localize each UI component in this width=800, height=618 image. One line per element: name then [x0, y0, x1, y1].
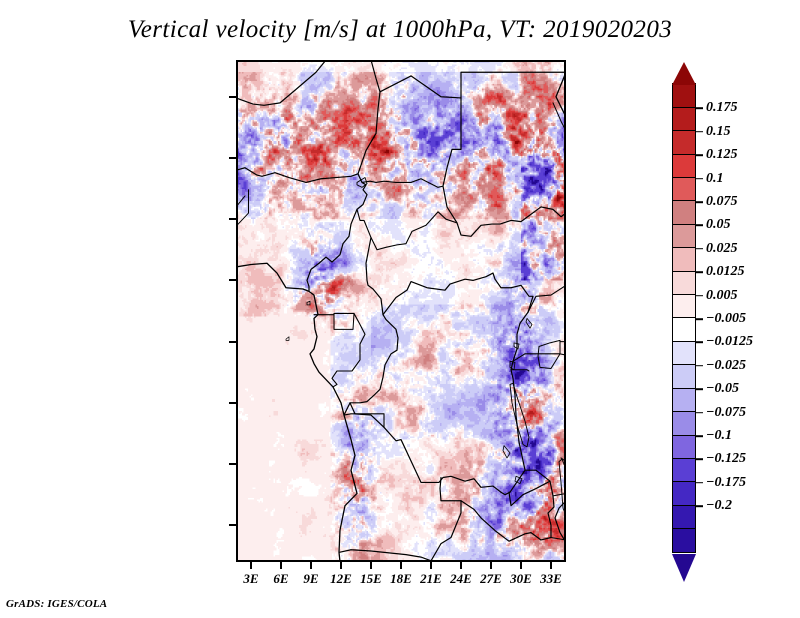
x-axis-tick [520, 562, 522, 569]
colorbar-tick-label: 0.05 [706, 217, 731, 233]
colorbar-tick [696, 459, 703, 461]
x-axis-label: 9E [303, 571, 318, 587]
x-axis-label: 15E [360, 571, 382, 587]
x-axis-tick [340, 562, 342, 569]
credit-text: GrADS: IGES/COLA [6, 598, 107, 610]
colorbar-swatch [672, 505, 696, 530]
colorbar-swatch [672, 458, 696, 483]
y-axis-tick [229, 463, 236, 465]
colorbar-tick [696, 505, 703, 507]
colorbar-swatch [672, 247, 696, 272]
y-axis-tick [229, 96, 236, 98]
colorbar-swatch [672, 177, 696, 202]
colorbar-tick-label: 0.175 [706, 100, 738, 116]
y-axis-tick [229, 402, 236, 404]
y-axis-tick [229, 157, 236, 159]
x-axis-tick [430, 562, 432, 569]
x-axis-label: 27E [480, 571, 502, 587]
colorbar-swatch [672, 154, 696, 179]
colorbar-tick [696, 178, 703, 180]
x-axis-label: 12E [330, 571, 352, 587]
y-axis-tick [229, 279, 236, 281]
colorbar-swatch [672, 294, 696, 319]
colorbar-tick [696, 388, 703, 390]
colorbar-tick-label: 0.025 [706, 241, 738, 257]
y-axis-tick [229, 524, 236, 526]
map-plot-area: 20N15N10N5NEQ5S10S15S3E6E9E12E15E18E21E2… [236, 60, 566, 562]
colorbar-tick [696, 412, 703, 414]
colorbar-tick-label: 0.005 [706, 288, 738, 304]
colorbar-tick [696, 365, 703, 367]
colorbar-tick-label: −0.125 [706, 451, 746, 467]
colorbar-tick [696, 248, 703, 250]
colorbar-tick [696, 342, 703, 344]
x-axis-label: 18E [390, 571, 412, 587]
x-axis-label: 30E [510, 571, 532, 587]
colorbar-tick-label: 0.0125 [706, 264, 745, 280]
colorbar-swatch [672, 83, 696, 108]
colorbar-min-arrow-icon [672, 554, 696, 582]
colorbar-tick-label: −0.2 [706, 498, 732, 514]
colorbar-tick [696, 271, 703, 273]
x-axis-tick [370, 562, 372, 569]
colorbar-swatch [672, 435, 696, 460]
colorbar-tick-label: −0.05 [706, 381, 739, 397]
colorbar-tick [696, 482, 703, 484]
x-axis-label: 33E [540, 571, 562, 587]
colorbar-swatch [672, 200, 696, 225]
y-axis-tick [229, 218, 236, 220]
colorbar-swatch [672, 388, 696, 413]
x-axis-tick [310, 562, 312, 569]
colorbar-tick [696, 131, 703, 133]
colorbar-tick-label: 0.15 [706, 124, 731, 140]
colorbar-tick [696, 225, 703, 227]
x-axis-tick [400, 562, 402, 569]
map-frame-border [236, 60, 566, 562]
y-axis-tick [229, 341, 236, 343]
colorbar-swatch [672, 224, 696, 249]
colorbar-tick [696, 201, 703, 203]
colorbar-swatch [672, 364, 696, 389]
x-axis-label: 3E [243, 571, 258, 587]
x-axis-tick [280, 562, 282, 569]
colorbar-tick [696, 295, 703, 297]
colorbar-swatch [672, 317, 696, 342]
colorbar: 0.1750.150.1250.10.0750.050.0250.01250.0… [672, 85, 696, 553]
colorbar-tick-label: −0.025 [706, 358, 746, 374]
x-axis-label: 21E [420, 571, 442, 587]
colorbar-tick-label: −0.175 [706, 475, 746, 491]
colorbar-max-arrow-icon [672, 62, 696, 85]
colorbar-tick-label: 0.075 [706, 194, 738, 210]
colorbar-swatch [672, 411, 696, 436]
colorbar-tick [696, 318, 703, 320]
colorbar-tick [696, 108, 703, 110]
x-axis-label: 6E [273, 571, 288, 587]
colorbar-tick [696, 154, 703, 156]
colorbar-swatch [672, 107, 696, 132]
chart-title: Vertical velocity [m/s] at 1000hPa, VT: … [0, 16, 800, 44]
colorbar-tick-label: 0.1 [706, 171, 724, 187]
colorbar-tick-label: −0.0125 [706, 334, 753, 350]
colorbar-tick-label: −0.075 [706, 405, 746, 421]
colorbar-tick [696, 435, 703, 437]
colorbar-swatch [672, 481, 696, 506]
x-axis-tick [550, 562, 552, 569]
colorbar-swatch [672, 528, 696, 553]
colorbar-tick-label: −0.1 [706, 428, 732, 444]
colorbar-swatch [672, 271, 696, 296]
x-axis-tick [250, 562, 252, 569]
colorbar-swatch [672, 130, 696, 155]
x-axis-tick [460, 562, 462, 569]
colorbar-swatch [672, 341, 696, 366]
colorbar-tick-label: −0.005 [706, 311, 746, 327]
colorbar-tick-label: 0.125 [706, 147, 738, 163]
x-axis-tick [490, 562, 492, 569]
x-axis-label: 24E [450, 571, 472, 587]
